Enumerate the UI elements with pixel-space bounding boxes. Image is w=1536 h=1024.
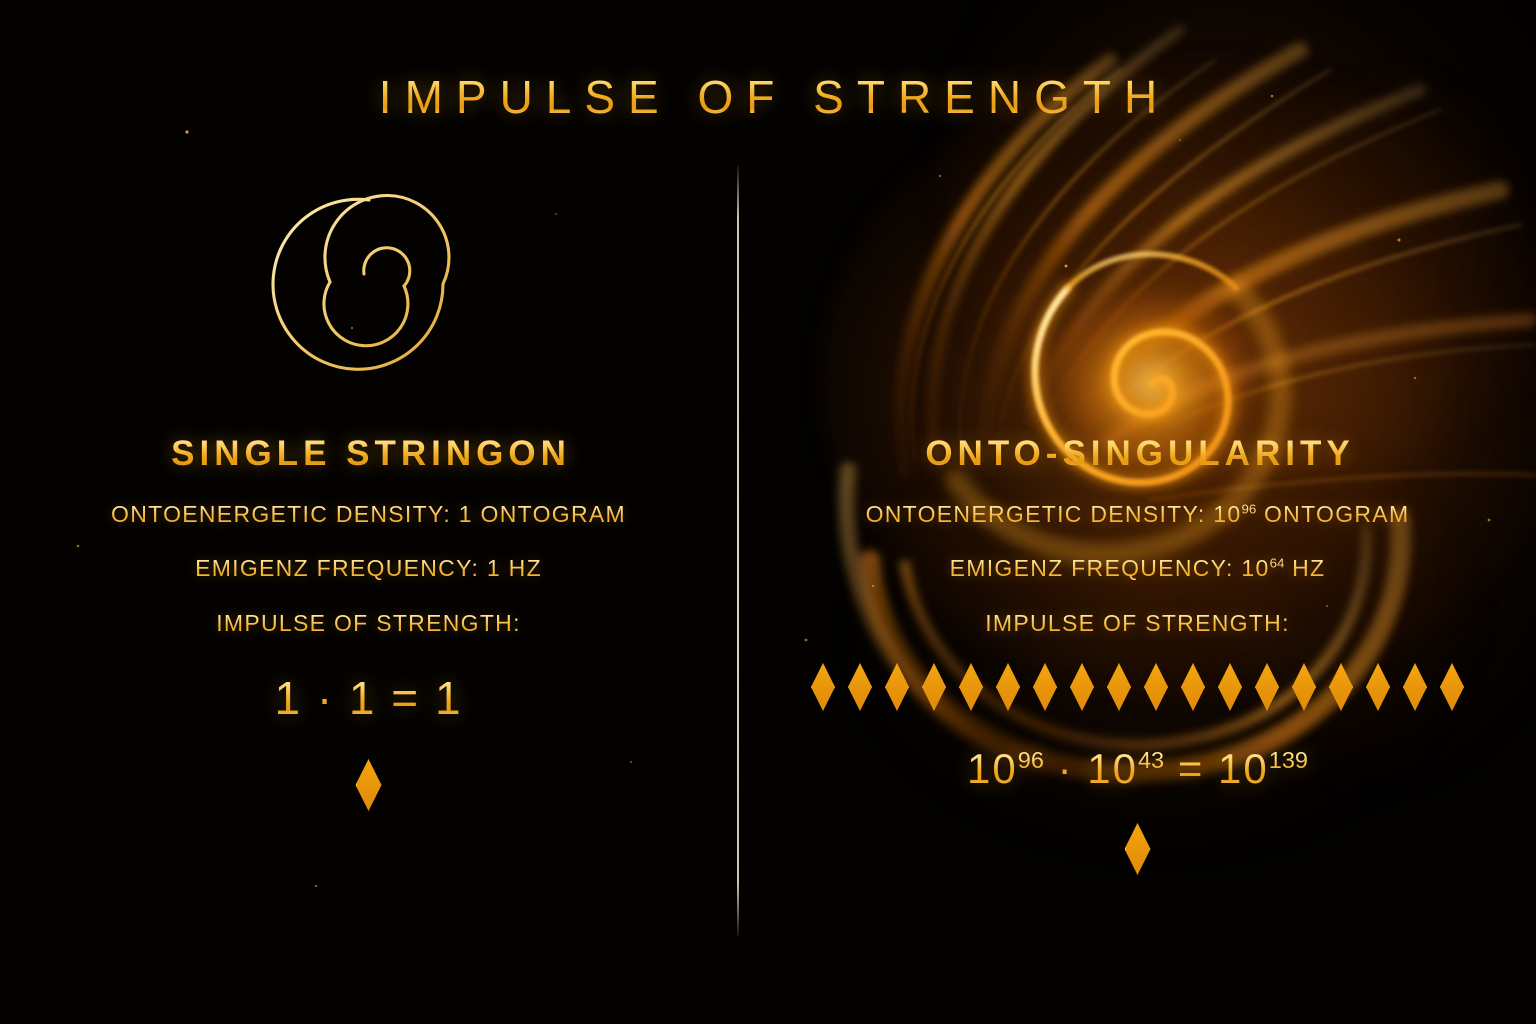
diamond-icon xyxy=(922,663,946,711)
diamond-icon xyxy=(1107,663,1131,711)
diamond-icon xyxy=(1218,663,1242,711)
diamond-icon xyxy=(1144,663,1168,711)
stat-frequency-exponent-right: 64 xyxy=(1270,555,1285,570)
stat-frequency-unit-right: HZ xyxy=(1292,555,1325,581)
stat-density-unit-right: ONTOGRAM xyxy=(1264,501,1409,527)
equation-lhs-right: 10 xyxy=(967,745,1018,792)
stat-frequency-value-right: 10 xyxy=(1241,555,1269,581)
equation-equals-left: = xyxy=(391,672,420,724)
diamond-icon xyxy=(1292,663,1316,711)
equation-result-left: 1 xyxy=(435,672,463,724)
diamond-row-right xyxy=(739,663,1536,711)
stat-frequency-value-left: 1 xyxy=(487,555,501,581)
panel-title-right: ONTO-SINGULARITY xyxy=(739,434,1536,474)
stat-frequency-left: EMIGENZ FREQUENCY: 1 HZ xyxy=(0,555,737,582)
singularity-emblem xyxy=(739,160,1536,410)
stringon-emblem xyxy=(0,160,737,410)
equation-result-right: 10 xyxy=(1218,745,1269,792)
stat-density-label-left: ONTOENERGETIC DENSITY: xyxy=(111,501,451,527)
diamond-icon xyxy=(1329,663,1353,711)
stat-density-label-right: ONTOENERGETIC DENSITY: xyxy=(866,501,1206,527)
equation-rhs-exponent-right: 43 xyxy=(1138,747,1164,773)
equation-rhs-right: 10 xyxy=(1087,745,1138,792)
stat-density-left: ONTOENERGETIC DENSITY: 1 ONTOGRAM xyxy=(0,501,737,528)
equation-right: 1096 · 1043 = 10139 xyxy=(739,745,1536,793)
stat-frequency-label-right: EMIGENZ FREQUENCY: xyxy=(950,555,1234,581)
diamond-icon xyxy=(356,759,382,811)
gold-spiral-icon xyxy=(254,170,484,400)
stat-frequency-label-left: EMIGENZ FREQUENCY: xyxy=(195,555,479,581)
panel-onto-singularity: ONTO-SINGULARITY ONTOENERGETIC DENSITY: … xyxy=(739,160,1536,960)
equation-lhs-left: 1 xyxy=(274,672,302,724)
diamond-icon xyxy=(848,663,872,711)
panel-single-stringon: SINGLE STRINGON ONTOENERGETIC DENSITY: 1… xyxy=(0,160,737,960)
diamond-icon xyxy=(1125,823,1151,875)
diamond-icon xyxy=(1181,663,1205,711)
stat-density-value-left: 1 xyxy=(459,501,473,527)
diamond-group-right xyxy=(739,823,1536,875)
diamond-icon xyxy=(1403,663,1427,711)
poster-canvas: IMPULSE OF STRENGTH SINGLE STRINGON ONTO… xyxy=(0,0,1536,1024)
stat-density-right: ONTOENERGETIC DENSITY: 1096 ONTOGRAM xyxy=(739,501,1536,528)
diamond-icon xyxy=(959,663,983,711)
impulse-label-right: IMPULSE OF STRENGTH: xyxy=(739,610,1536,637)
diamond-icon xyxy=(1366,663,1390,711)
equation-equals-right: = xyxy=(1178,745,1205,792)
equation-rhs-left: 1 xyxy=(349,672,377,724)
equation-lhs-exponent-right: 96 xyxy=(1018,747,1044,773)
stat-frequency-right: EMIGENZ FREQUENCY: 1064 HZ xyxy=(739,555,1536,582)
stat-frequency-unit-left: HZ xyxy=(509,555,542,581)
stat-density-value-right: 10 xyxy=(1213,501,1241,527)
equation-operator-right: · xyxy=(1058,745,1074,792)
diamond-icon xyxy=(885,663,909,711)
diamond-group-left xyxy=(0,759,737,811)
equation-left: 1 · 1 = 1 xyxy=(0,671,737,725)
stat-density-exponent-right: 96 xyxy=(1241,501,1256,516)
page-title: IMPULSE OF STRENGTH xyxy=(0,70,1536,124)
diamond-icon xyxy=(1070,663,1094,711)
diamond-icon xyxy=(1033,663,1057,711)
diamond-icon xyxy=(811,663,835,711)
equation-result-exponent-right: 139 xyxy=(1269,747,1308,773)
diamond-icon xyxy=(1440,663,1464,711)
diamond-icon xyxy=(996,663,1020,711)
equation-operator-left: · xyxy=(317,672,334,724)
diamond-icon xyxy=(1255,663,1279,711)
panel-title-left: SINGLE STRINGON xyxy=(0,434,737,474)
stat-density-unit-left: ONTOGRAM xyxy=(481,501,626,527)
impulse-label-left: IMPULSE OF STRENGTH: xyxy=(0,610,737,637)
